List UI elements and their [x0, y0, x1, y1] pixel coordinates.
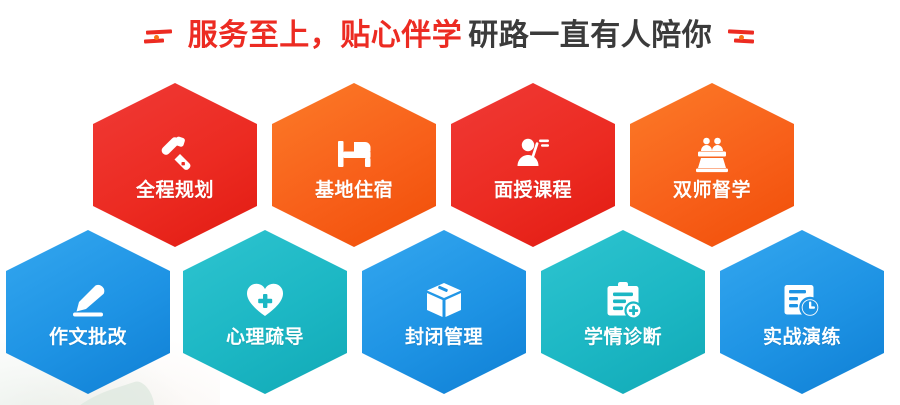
- document-clock-icon: [779, 278, 825, 324]
- hex-tile-label: 实战演练: [763, 328, 841, 347]
- hex-tile-psychological-counseling[interactable]: 心理疏导: [183, 230, 347, 394]
- hex-tile-base-accommodation[interactable]: 基地住宿: [272, 83, 436, 247]
- hex-tile-label: 学情诊断: [584, 328, 662, 347]
- hex-tile-label: 封闭管理: [405, 328, 483, 347]
- package-box-icon: [421, 278, 467, 324]
- hex-tile-label: 基地住宿: [315, 181, 393, 200]
- hex-tile-label: 心理疏导: [226, 328, 304, 347]
- hex-tile-closed-management[interactable]: 封闭管理: [362, 230, 526, 394]
- hex-tile-dual-teacher-supervision[interactable]: 双师督学: [630, 83, 794, 247]
- teacher-presenting-icon: [510, 131, 556, 177]
- hex-tile-essay-correction[interactable]: 作文批改: [6, 230, 170, 394]
- pen-correction-icon: [65, 278, 111, 324]
- highlighter-pen-icon: [152, 131, 198, 177]
- promo-banner: 服务至上，贴心伴学研路一直有人陪你 全程规划: [0, 0, 900, 405]
- hex-tile-label: 全程规划: [136, 181, 214, 200]
- bed-icon: [331, 131, 377, 177]
- hex-tile-full-planning[interactable]: 全程规划: [93, 83, 257, 247]
- hex-tile-practical-drill[interactable]: 实战演练: [720, 230, 884, 394]
- hex-tile-label: 双师督学: [673, 181, 751, 200]
- heart-plus-icon: [242, 278, 288, 324]
- hex-tile-label: 面授课程: [494, 181, 572, 200]
- hex-tile-in-person-courses[interactable]: 面授课程: [451, 83, 615, 247]
- hex-tile-learning-diagnosis[interactable]: 学情诊断: [541, 230, 705, 394]
- hex-tile-label: 作文批改: [49, 328, 127, 347]
- clipboard-plus-icon: [600, 278, 646, 324]
- two-teachers-podium-icon: [689, 131, 735, 177]
- hexagon-grid: 全程规划 基地住宿: [0, 0, 900, 405]
